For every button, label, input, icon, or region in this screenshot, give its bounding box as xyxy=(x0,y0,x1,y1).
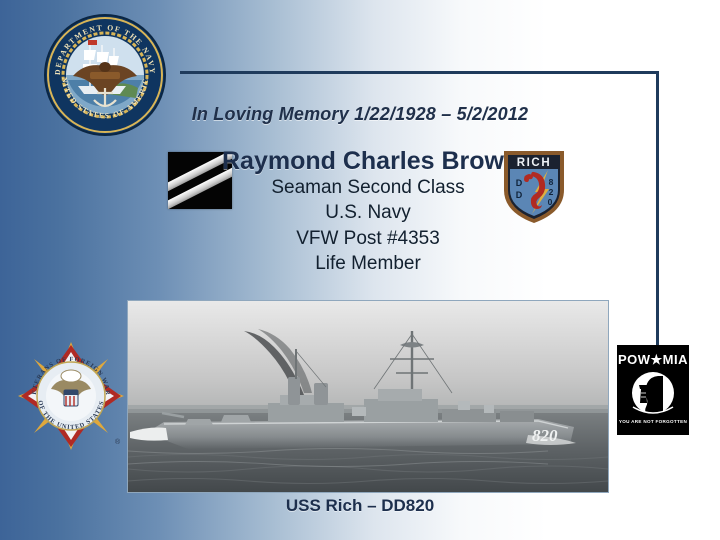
photo-caption: USS Rich – DD820 xyxy=(0,496,720,516)
vfw-registered-mark: ® xyxy=(115,438,121,446)
ship-patch-top-text: RICH xyxy=(517,157,552,169)
uss-rich-photograph: 820 xyxy=(127,300,609,493)
svg-text:D: D xyxy=(516,190,523,200)
svg-text:2: 2 xyxy=(549,187,554,197)
ship-patch-hull-number: 8 xyxy=(549,177,554,187)
pow-mia-bottom-text: YOU ARE NOT FORGOTTEN xyxy=(619,419,688,424)
ship-hull-number: 820 xyxy=(532,426,558,445)
vfw-emblem-icon: VETERANS OF FOREIGN WARS OF THE UNITED S… xyxy=(16,340,126,452)
vfw-post: VFW Post #4353 xyxy=(222,226,514,251)
svg-text:0: 0 xyxy=(548,197,553,207)
memorial-slide: DEPARTMENT OF THE NAVY UNITED STATES OF … xyxy=(0,0,720,540)
membership-status: Life Member xyxy=(222,251,514,276)
name-and-service-block: Raymond Charles Brown Seaman Second Clas… xyxy=(222,148,514,276)
pow-mia-flag-icon: POW★MIA YOU ARE NOT FORGOTTEN xyxy=(617,345,689,435)
in-loving-memory-line: In Loving Memory 1/22/1928 – 5/2/2012 xyxy=(0,104,720,125)
ship-patch-hull-prefix: D xyxy=(516,178,523,188)
header-divider-horizontal xyxy=(180,71,659,74)
service-rank: Seaman Second Class xyxy=(222,175,514,200)
pow-mia-top-text: POW★MIA xyxy=(618,352,688,367)
page-title: Raymond Charles Brown xyxy=(222,148,514,175)
service-branch: U.S. Navy xyxy=(222,200,514,225)
uss-rich-dd820-patch-icon: RICH D D 8 2 0 xyxy=(501,148,567,226)
